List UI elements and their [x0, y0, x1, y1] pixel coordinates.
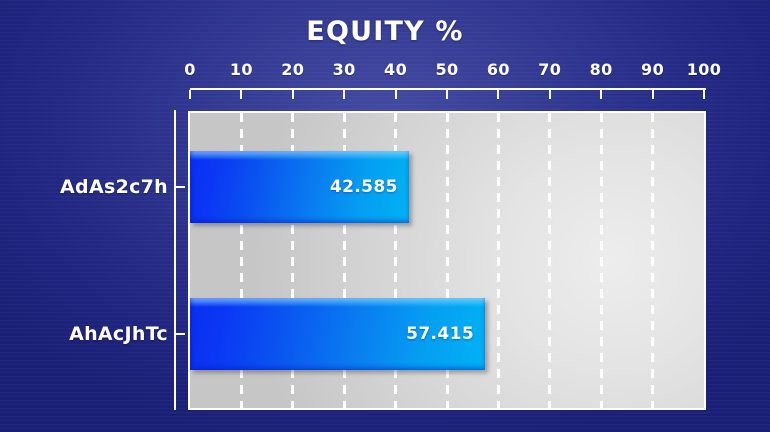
x-axis-line — [190, 88, 706, 90]
y-axis-tick — [174, 333, 185, 335]
x-axis-tick-label: 50 — [424, 60, 470, 80]
bar-value-label: 42.585 — [330, 177, 398, 197]
x-axis: 0102030405060708090100 — [190, 60, 706, 110]
gridline — [548, 113, 551, 408]
x-axis-tick-label: 60 — [475, 60, 521, 80]
x-axis-tick-label: 0 — [167, 60, 213, 80]
x-axis-tick-label: 20 — [270, 60, 316, 80]
x-axis-tick-label: 70 — [527, 60, 573, 80]
x-axis-tick — [703, 90, 705, 99]
x-axis-tick-label: 30 — [321, 60, 367, 80]
y-axis-category-label: AdAs2c7h — [60, 175, 168, 199]
y-axis-line — [174, 110, 176, 410]
gridline — [651, 113, 654, 408]
x-axis-tick — [600, 90, 602, 99]
bar-AhAcJhTc[interactable]: 57.415 — [190, 298, 485, 370]
x-axis-tick-label: 100 — [681, 60, 727, 80]
x-axis-tick — [497, 90, 499, 99]
x-axis-tick — [240, 90, 242, 99]
chart-slide: EQUITY % 0102030405060708090100 42.58557… — [0, 0, 770, 432]
bar-value-label: 57.415 — [406, 324, 474, 344]
bar-row: 57.415 — [190, 298, 704, 370]
x-axis-tick-label: 10 — [218, 60, 264, 80]
gridline — [600, 113, 603, 408]
x-axis-tick — [189, 90, 191, 99]
x-axis-tick-label: 80 — [578, 60, 624, 80]
x-axis-tick-label: 90 — [630, 60, 676, 80]
gridline — [497, 113, 500, 408]
x-axis-tick-label: 40 — [373, 60, 419, 80]
page-title: EQUITY % — [0, 16, 770, 48]
plot-area: 42.58557.415 — [188, 111, 706, 410]
y-axis-tick — [174, 186, 185, 188]
x-axis-tick — [395, 90, 397, 99]
x-axis-tick — [446, 90, 448, 99]
x-axis-tick — [292, 90, 294, 99]
bar-AdAs2c7h[interactable]: 42.585 — [190, 151, 409, 223]
y-axis-category-label: AhAcJhTc — [69, 322, 168, 346]
x-axis-tick — [549, 90, 551, 99]
x-axis-tick — [652, 90, 654, 99]
x-axis-tick — [343, 90, 345, 99]
